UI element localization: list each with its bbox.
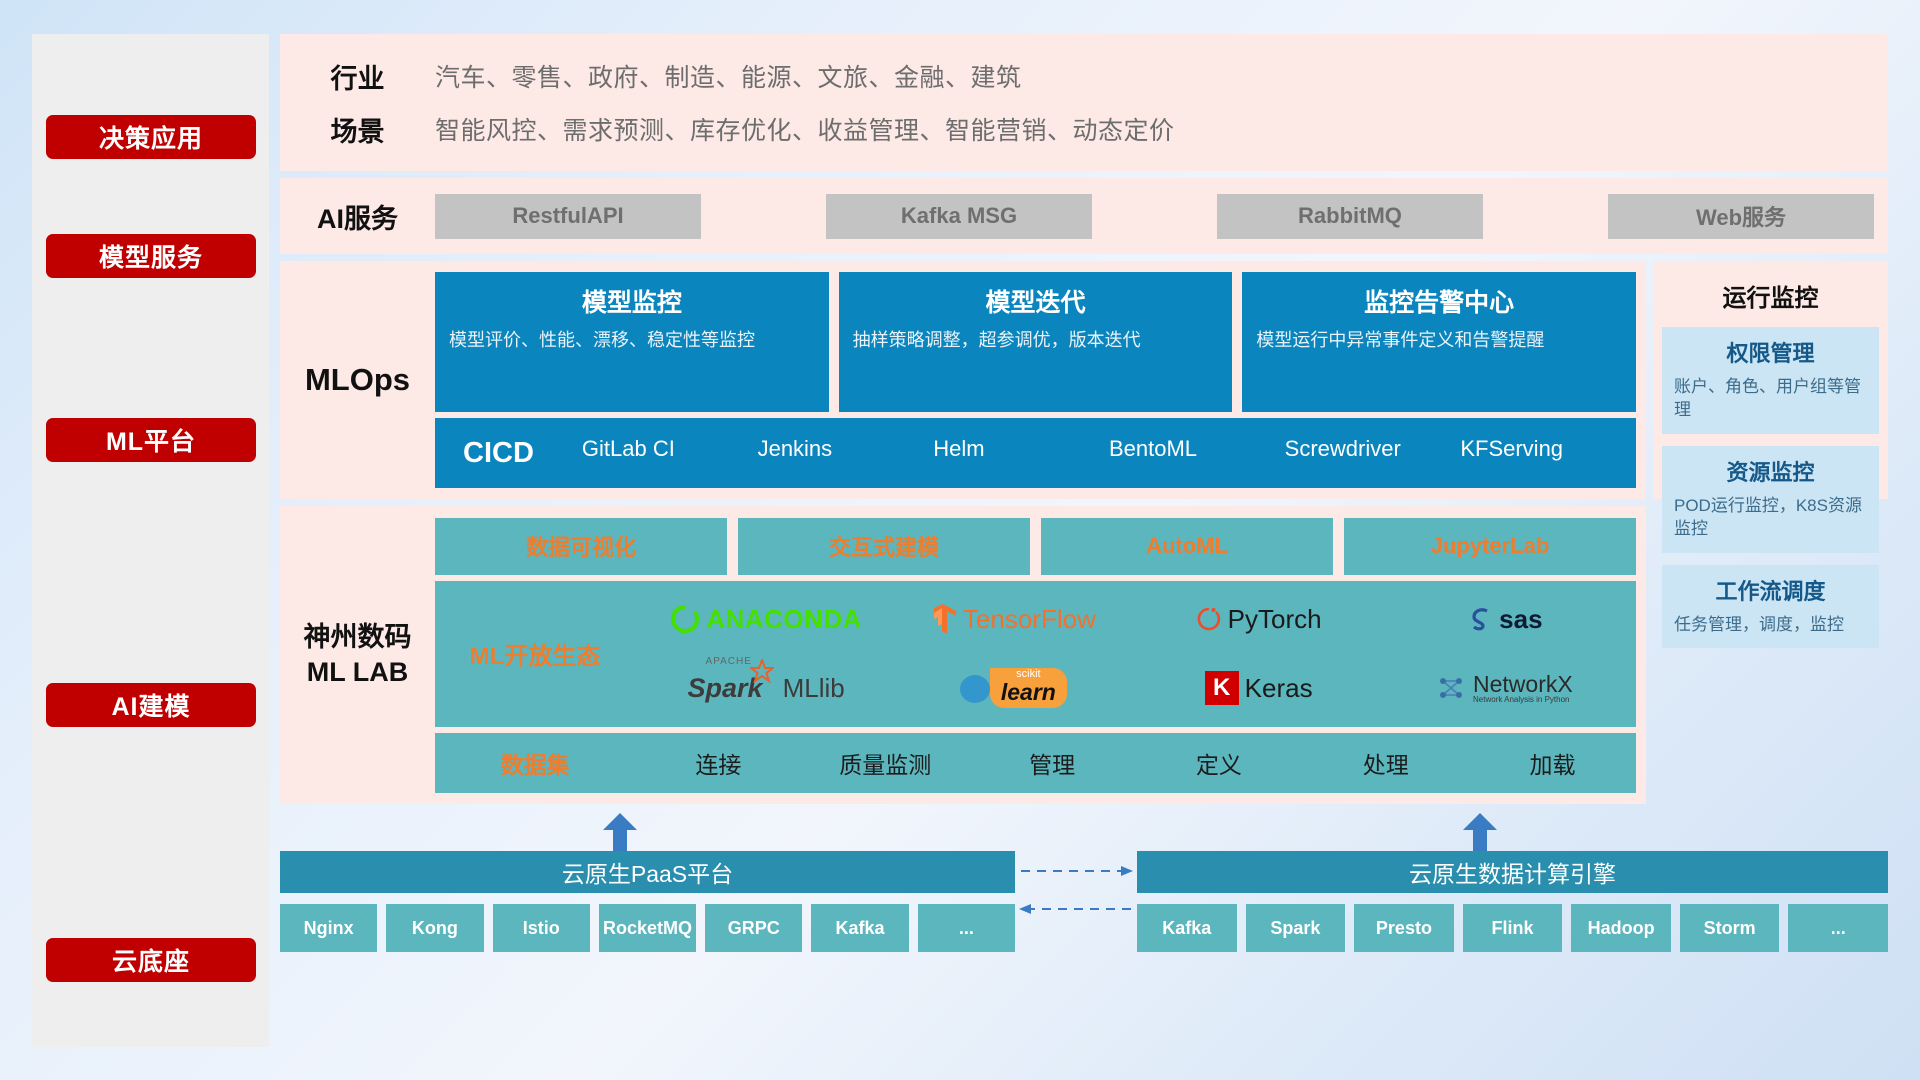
rail-item-model-service[interactable]: 模型服务: [46, 234, 256, 278]
card-title: 模型监控: [449, 283, 815, 319]
tool-chip-data-visualization[interactable]: 数据可视化: [435, 518, 727, 575]
networkx-wordmark: NetworkX: [1473, 672, 1573, 696]
keras-icon: K: [1205, 671, 1239, 705]
tensorflow-wordmark: TensorFlow: [963, 604, 1096, 635]
card-desc: 模型评价、性能、漂移、稳定性等监控: [449, 328, 815, 353]
industry-row: 行业 汽车、零售、政府、制造、能源、文旅、金融、建筑: [280, 57, 1888, 96]
bidirectional-dashed-arrows-icon: [1015, 857, 1137, 927]
mlops-card-alert-center[interactable]: 监控告警中心 模型运行中异常事件定义和告警提醒: [1242, 272, 1636, 412]
mlops-content: 模型监控 模型评价、性能、漂移、稳定性等监控 模型迭代 抽样策略调整，超参调优，…: [435, 272, 1646, 488]
monitor-card-permission[interactable]: 权限管理 账户、角色、用户组等管理: [1662, 327, 1879, 434]
rail-item-decision-app[interactable]: 决策应用: [46, 115, 256, 159]
networkx-subtitle: Network Analysis in Python: [1473, 696, 1573, 704]
dataset-item-define[interactable]: 定义: [1135, 746, 1302, 780]
ai-service-chip-kafka-msg[interactable]: Kafka MSG: [826, 194, 1092, 239]
ml-lab-label-line1: 神州数码: [280, 620, 435, 655]
cicd-bar: CICD GitLab CI Jenkins Helm BentoML Scre…: [435, 418, 1636, 488]
spark-mllib-logo: APACHE Spark MLlib: [688, 673, 845, 704]
apache-wordmark: APACHE: [706, 656, 752, 667]
ai-service-list: RestfulAPI Kafka MSG RabbitMQ Web服务: [435, 194, 1888, 239]
networkx-logo: NetworkX Network Analysis in Python: [1437, 672, 1573, 705]
dataset-item-quality-monitor[interactable]: 质量监测: [802, 746, 969, 780]
cicd-item-gitlab-ci[interactable]: GitLab CI: [582, 434, 758, 463]
ai-service-chip-web[interactable]: Web服务: [1608, 194, 1874, 239]
architecture-diagram: 决策应用 模型服务 ML平台 AI建模 云底座 行业 汽车、零售、政府、制造、能…: [32, 34, 1888, 1047]
sas-logo: sas: [1467, 604, 1542, 635]
card-title: 模型迭代: [853, 283, 1219, 319]
dataset-label: 数据集: [435, 746, 635, 780]
lab-right-spacer: [1653, 506, 1888, 804]
engine-chip-more[interactable]: ...: [1788, 904, 1888, 952]
ml-platform-band: MLOps 模型监控 模型评价、性能、漂移、稳定性等监控 模型迭代 抽样策略调整…: [280, 261, 1888, 499]
paas-chip-rocketmq[interactable]: RocketMQ: [599, 904, 696, 952]
dataset-item-process[interactable]: 处理: [1302, 746, 1469, 780]
paas-chip-kong[interactable]: Kong: [386, 904, 483, 952]
card-title: 权限管理: [1674, 336, 1867, 368]
rail-item-cloud-base[interactable]: 云底座: [46, 938, 256, 982]
card-desc: 账户、角色、用户组等管理: [1674, 375, 1867, 422]
up-arrow-engine-icon: [1463, 813, 1497, 851]
dataset-item-manage[interactable]: 管理: [969, 746, 1136, 780]
card-desc: 模型运行中异常事件定义和告警提醒: [1256, 328, 1622, 353]
run-monitor-title: 运行监控: [1723, 278, 1819, 313]
ml-tool-row: 数据可视化 交互式建模 AutoML JupyterLab: [435, 518, 1636, 575]
pytorch-icon: [1196, 605, 1222, 633]
cloud-arrows-row: [280, 811, 1888, 851]
ai-service-label: AI服务: [280, 197, 435, 236]
cicd-item-list: GitLab CI Jenkins Helm BentoML Screwdriv…: [582, 418, 1636, 488]
paas-chip-more[interactable]: ...: [918, 904, 1015, 952]
engine-chip-storm[interactable]: Storm: [1680, 904, 1780, 952]
ai-service-chip-rabbitmq[interactable]: RabbitMQ: [1217, 194, 1483, 239]
engine-chip-flink[interactable]: Flink: [1463, 904, 1563, 952]
scenario-row: 场景 智能风控、需求预测、库存优化、收益管理、智能营销、动态定价: [280, 110, 1888, 149]
networkx-icon: [1437, 673, 1467, 703]
keras-wordmark: Keras: [1245, 673, 1313, 704]
tensorflow-logo: TensorFlow: [929, 603, 1096, 635]
dataset-item-connect[interactable]: 连接: [635, 746, 802, 780]
tensorflow-icon: [929, 603, 957, 635]
cloud-columns: 云原生PaaS平台 Nginx Kong Istio RocketMQ GRPC…: [280, 851, 1888, 1047]
rail-item-ai-modeling[interactable]: AI建模: [46, 683, 256, 727]
anaconda-logo: ANACONDA: [670, 604, 862, 635]
paas-chip-istio[interactable]: Istio: [493, 904, 590, 952]
mlops-card-model-iteration[interactable]: 模型迭代 抽样策略调整，超参调优，版本迭代: [839, 272, 1233, 412]
layer-rail: 决策应用 模型服务 ML平台 AI建模 云底座: [32, 34, 269, 1047]
card-title: 监控告警中心: [1256, 283, 1622, 319]
mlops-card-model-monitoring[interactable]: 模型监控 模型评价、性能、漂移、稳定性等监控: [435, 272, 829, 412]
learn-wordmark: learn: [1001, 680, 1056, 704]
scikit-blue-blob-icon: [958, 672, 992, 704]
anaconda-wordmark: ANACONDA: [706, 604, 862, 635]
run-monitor-column: 运行监控 权限管理 账户、角色、用户组等管理 资源监控 POD运行监控，K8S资…: [1653, 261, 1888, 499]
cloud-base-band: 云原生PaaS平台 Nginx Kong Istio RocketMQ GRPC…: [280, 811, 1888, 1047]
paas-chip-nginx[interactable]: Nginx: [280, 904, 377, 952]
engine-chip-hadoop[interactable]: Hadoop: [1571, 904, 1671, 952]
spark-star-icon: [750, 659, 774, 683]
up-arrow-paas-icon: [603, 813, 637, 851]
engine-chip-list: Kafka Spark Presto Flink Hadoop Storm ..…: [1137, 904, 1888, 952]
paas-chip-kafka[interactable]: Kafka: [811, 904, 908, 952]
engine-chip-kafka[interactable]: Kafka: [1137, 904, 1237, 952]
mlops-label: MLOps: [280, 362, 435, 398]
tool-chip-automl[interactable]: AutoML: [1041, 518, 1333, 575]
dataset-row: 数据集 连接 质量监测 管理 定义 处理 加载: [435, 733, 1636, 793]
ml-lab-section: 神州数码 ML LAB 数据可视化 交互式建模 AutoML JupyterLa…: [280, 506, 1646, 804]
cicd-item-jenkins[interactable]: Jenkins: [758, 434, 934, 463]
layer-stack: 行业 汽车、零售、政府、制造、能源、文旅、金融、建筑 场景 智能风控、需求预测、…: [280, 34, 1888, 1047]
cicd-item-helm[interactable]: Helm: [933, 434, 1109, 463]
paas-chip-grpc[interactable]: GRPC: [705, 904, 802, 952]
paas-chip-list: Nginx Kong Istio RocketMQ GRPC Kafka ...: [280, 904, 1015, 952]
paas-column: 云原生PaaS平台 Nginx Kong Istio RocketMQ GRPC…: [280, 851, 1015, 952]
cicd-item-screwdriver[interactable]: Screwdriver: [1285, 434, 1461, 463]
industry-label: 行业: [280, 57, 435, 96]
keras-logo: K Keras: [1205, 671, 1313, 705]
cicd-item-bentoml[interactable]: BentoML: [1109, 434, 1285, 463]
cicd-label: CICD: [463, 437, 534, 470]
anaconda-icon: [670, 604, 700, 634]
ml-ecosystem-label: ML开放生态: [435, 636, 635, 671]
ml-lab-label-line2: ML LAB: [280, 655, 435, 690]
scenario-label: 场景: [280, 110, 435, 149]
scikit-learn-logo: scikit learn: [958, 668, 1067, 707]
tool-chip-interactive-modeling[interactable]: 交互式建模: [738, 518, 1030, 575]
engine-chip-presto[interactable]: Presto: [1354, 904, 1454, 952]
sas-wordmark: sas: [1499, 604, 1542, 635]
scenario-value: 智能风控、需求预测、库存优化、收益管理、智能营销、动态定价: [435, 111, 1175, 147]
decision-app-band: 行业 汽车、零售、政府、制造、能源、文旅、金融、建筑 场景 智能风控、需求预测、…: [280, 34, 1888, 171]
ai-service-band: AI服务 RestfulAPI Kafka MSG RabbitMQ Web服务: [280, 178, 1888, 254]
engine-column: 云原生数据计算引擎 Kafka Spark Presto Flink Hadoo…: [1137, 851, 1888, 952]
dataset-item-load[interactable]: 加载: [1469, 746, 1636, 780]
ai-service-chip-restfulapi[interactable]: RestfulAPI: [435, 194, 701, 239]
card-title: 资源监控: [1674, 455, 1867, 487]
industry-value: 汽车、零售、政府、制造、能源、文旅、金融、建筑: [435, 58, 1022, 94]
mllib-wordmark: MLlib: [783, 673, 845, 704]
rail-item-ml-platform[interactable]: ML平台: [46, 418, 256, 462]
card-desc: 抽样策略调整，超参调优，版本迭代: [853, 328, 1219, 353]
paas-title: 云原生PaaS平台: [280, 851, 1015, 893]
cicd-item-kfserving[interactable]: KFServing: [1460, 434, 1636, 463]
ml-lab-content: 数据可视化 交互式建模 AutoML JupyterLab ML开放生态: [435, 518, 1646, 793]
engine-chip-spark[interactable]: Spark: [1246, 904, 1346, 952]
mlops-section: MLOps 模型监控 模型评价、性能、漂移、稳定性等监控 模型迭代 抽样策略调整…: [280, 261, 1646, 499]
pytorch-wordmark: PyTorch: [1228, 604, 1322, 635]
mlops-card-list: 模型监控 模型评价、性能、漂移、稳定性等监控 模型迭代 抽样策略调整，超参调优，…: [435, 272, 1636, 412]
ml-lab-label: 神州数码 ML LAB: [280, 620, 435, 690]
ai-modeling-band: 神州数码 ML LAB 数据可视化 交互式建模 AutoML JupyterLa…: [280, 506, 1888, 804]
sas-icon: [1467, 606, 1493, 632]
pytorch-logo: PyTorch: [1196, 604, 1322, 635]
ml-ecosystem-logos: ANACONDA TensorFlow: [635, 581, 1636, 727]
dataset-item-list: 连接 质量监测 管理 定义 处理 加载: [635, 746, 1636, 780]
engine-title: 云原生数据计算引擎: [1137, 851, 1888, 893]
ml-ecosystem-row: ML开放生态 ANACONDA: [435, 581, 1636, 727]
tool-chip-jupyterlab[interactable]: JupyterLab: [1344, 518, 1636, 575]
